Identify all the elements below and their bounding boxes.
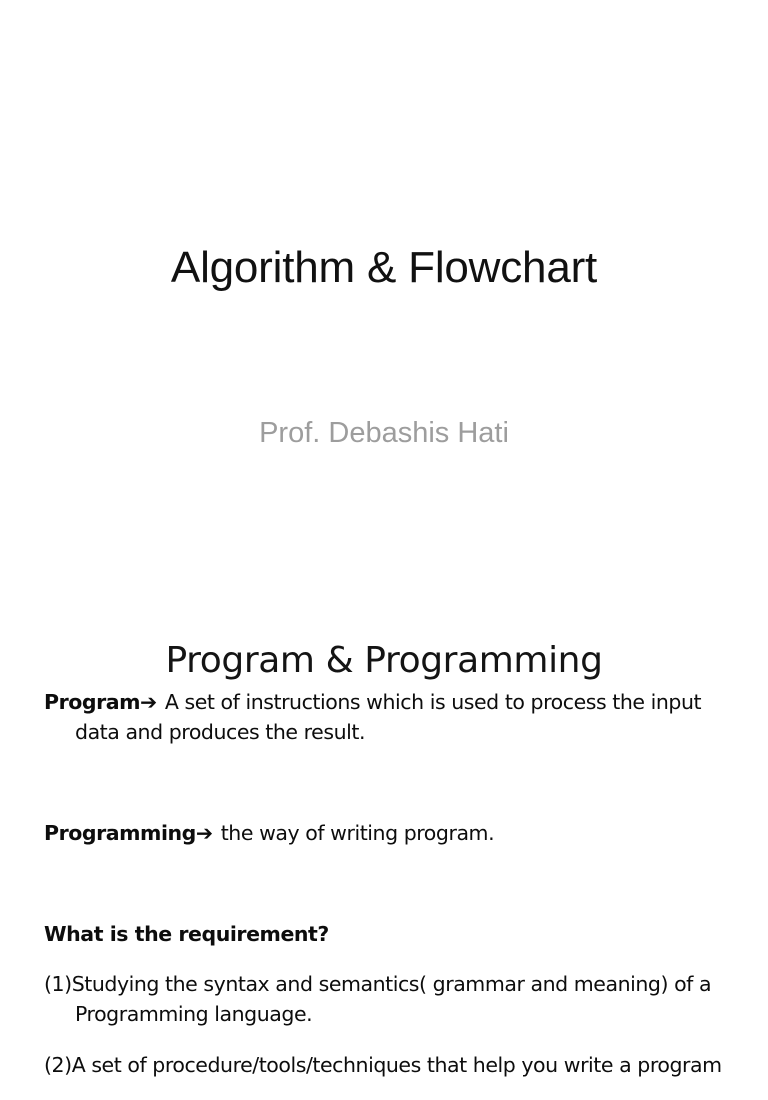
spacer — [44, 868, 744, 898]
definition-text-program: A set of instructions which is used to p… — [75, 690, 701, 744]
slide-page: Algorithm & Flowchart Prof. Debashis Hat… — [0, 0, 768, 1024]
requirement-question: What is the requirement? — [44, 919, 744, 949]
spacer — [44, 767, 744, 797]
definition-term-program: Program — [44, 690, 140, 714]
author-subtitle: Prof. Debashis Hati — [0, 416, 768, 451]
content-body: Program➔ A set of instructions which is … — [44, 666, 744, 1100]
requirement-item-1: (1)Studying the syntax and semantics( gr… — [44, 969, 744, 1029]
arrow-icon: ➔ — [140, 690, 159, 714]
page-title: Algorithm & Flowchart — [0, 243, 768, 293]
definition-text-programming: the way of writing program. — [215, 821, 495, 845]
definition-programming: Programming➔ the way of writing program. — [44, 818, 744, 848]
requirement-item-2: (2)A set of procedure/tools/techniques t… — [44, 1050, 744, 1080]
content-slide: Program & Programming Program➔ A set of … — [0, 512, 768, 1024]
definition-program: Program➔ A set of instructions which is … — [44, 687, 744, 747]
arrow-icon: ➔ — [196, 821, 215, 845]
title-slide: Algorithm & Flowchart Prof. Debashis Hat… — [0, 0, 768, 512]
definition-term-programming: Programming — [44, 821, 196, 845]
